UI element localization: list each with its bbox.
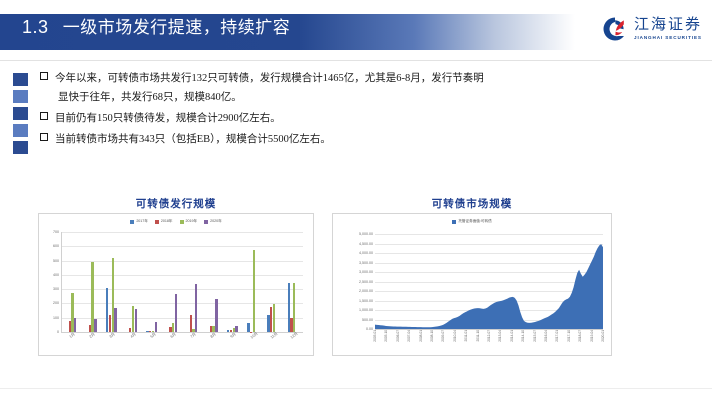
- x-axis-tick: 2017-10: [567, 330, 571, 342]
- x-axis-tick: 2014-01: [510, 330, 514, 342]
- bar: [273, 304, 275, 332]
- bar: [195, 284, 197, 332]
- header-divider: [0, 60, 712, 61]
- legend-item: 2020年: [204, 219, 222, 224]
- bar-group: [122, 232, 142, 332]
- market-scale-area-chart: 可转债市场规模 托管证券面值:可转债 5,000.004,500.004,000…: [332, 196, 612, 356]
- chart-frame: 托管证券面值:可转债 5,000.004,500.004,000.003,500…: [332, 213, 612, 356]
- bar: [253, 250, 255, 332]
- y-axis-tick: 3,500.00: [359, 261, 373, 265]
- bar-group: [162, 232, 182, 332]
- y-axis-tick: 500.00: [362, 318, 373, 322]
- y-axis-tick: 500: [53, 259, 59, 263]
- bar-group: [182, 232, 202, 332]
- x-axis-tick: 2019-04: [590, 330, 594, 342]
- x-axis-tick: 2017-01: [555, 330, 559, 342]
- chart-legend: 托管证券面值:可转债: [333, 219, 611, 224]
- legend-swatch: [130, 220, 134, 224]
- footer-divider: [0, 388, 712, 389]
- decorative-square: [13, 141, 28, 154]
- decorative-square-column: [13, 73, 28, 158]
- legend-label: 2019年: [186, 219, 198, 224]
- x-axis-tick: 2008-10: [430, 330, 434, 342]
- x-axis-tick: 2020-01: [601, 330, 605, 342]
- bar-group: [142, 232, 162, 332]
- decorative-square: [13, 90, 28, 103]
- x-axis-tick: 2010-04: [453, 330, 457, 342]
- legend-swatch: [180, 220, 184, 224]
- slide-header: 1.3 一级市场发行提速，持续扩容 江海证券 JIANGHAI SECURITI…: [0, 0, 712, 62]
- bar: [94, 319, 96, 332]
- issuance-scale-bar-chart: 可转债发行规模 2017年2018年2019年2020年 01002003004…: [38, 196, 314, 356]
- bar-group: [101, 232, 121, 332]
- jianghai-logo-icon: [602, 16, 628, 42]
- y-axis-tick: 300: [53, 287, 59, 291]
- bar: [175, 294, 177, 332]
- x-axis-tick: 7月: [190, 332, 198, 340]
- logo-wordmark: 江海证券 JIANGHAI SECURITIES: [634, 18, 702, 41]
- y-axis-tick: 100: [53, 316, 59, 320]
- bar: [74, 318, 76, 332]
- chart-frame: 2017年2018年2019年2020年 0100200300400500600…: [38, 213, 314, 356]
- legend-item: 托管证券面值:可转债: [452, 219, 491, 224]
- bullet-text: 显快于往年，共发行68只，规模840亿。: [58, 92, 242, 103]
- logo-name-en: JIANGHAI SECURITIES: [634, 36, 702, 41]
- area-series: [375, 234, 603, 329]
- page-title: 1.3 一级市场发行提速，持续扩容: [22, 13, 290, 38]
- y-axis-tick: 400: [53, 273, 59, 277]
- y-axis-tick: 4,500.00: [359, 242, 373, 246]
- x-axis-tick: 8月: [210, 332, 218, 340]
- bullet-item: 目前仍有150只转债待发，规模合计2900亿左右。: [40, 110, 281, 125]
- section-number: 1.3: [22, 17, 49, 37]
- x-axis-tick: 2008-01: [419, 330, 423, 342]
- legend-swatch: [204, 220, 208, 224]
- y-axis-tick: 3,000.00: [359, 270, 373, 274]
- bar-group: [222, 232, 242, 332]
- y-axis-tick: 2,500.00: [359, 280, 373, 284]
- logo-name-cn: 江海证券: [634, 18, 702, 33]
- bar-group: [283, 232, 303, 332]
- y-axis-tick: 0: [57, 330, 59, 334]
- bar: [114, 308, 116, 332]
- y-axis-tick: 700: [53, 230, 59, 234]
- legend-swatch: [155, 220, 159, 224]
- bullet-item-continuation: 显快于往年，共发行68只，规模840亿。: [58, 89, 242, 104]
- legend-label: 2020年: [210, 219, 222, 224]
- x-axis-tick: 2011-10: [476, 330, 480, 341]
- x-axis-tick: 2011-01: [464, 330, 468, 341]
- title-label: 一级市场发行提速，持续扩容: [63, 18, 291, 37]
- x-axis-tick: 2月: [89, 332, 97, 340]
- bar: [215, 299, 217, 332]
- bullet-text: 今年以来，可转债市场共发行132只可转债，发行规模合计1465亿，尤其是6-8月…: [55, 73, 484, 84]
- y-axis-tick: 4,000.00: [359, 251, 373, 255]
- x-axis-tick: 9月: [230, 332, 238, 340]
- chart-title: 可转债市场规模: [332, 196, 612, 211]
- legend-swatch: [452, 220, 456, 224]
- legend-item: 2017年: [130, 219, 148, 224]
- decorative-square: [13, 124, 28, 137]
- bar: [155, 322, 157, 332]
- x-axis-tick: 2013-04: [498, 330, 502, 342]
- decorative-square: [13, 73, 28, 86]
- bullet-square-icon: [40, 133, 48, 141]
- x-axis-tick: 2005-01: [373, 330, 377, 342]
- bullet-item: 当前转债市场共有343只（包括EB），规模合计5500亿左右。: [40, 131, 331, 146]
- bullet-square-icon: [40, 72, 48, 80]
- legend-item: 2018年: [155, 219, 173, 224]
- company-logo: 江海证券 JIANGHAI SECURITIES: [602, 12, 702, 46]
- bar-group: [243, 232, 263, 332]
- x-axis-tick: 2007-04: [407, 330, 411, 342]
- x-axis-tick: 1月: [69, 332, 77, 340]
- x-axis-tick: 3月: [109, 332, 117, 340]
- bar-group: [263, 232, 283, 332]
- bar: [135, 309, 137, 332]
- chart-legend: 2017年2018年2019年2020年: [39, 219, 313, 224]
- bullet-square-icon: [40, 112, 48, 120]
- y-axis-tick: 2,000.00: [359, 289, 373, 293]
- x-axis-tick: 2014-10: [521, 330, 525, 342]
- decorative-square: [13, 107, 28, 120]
- legend-item: 2019年: [180, 219, 198, 224]
- bullet-text: 目前仍有150只转债待发，规模合计2900亿左右。: [55, 113, 281, 124]
- legend-label: 2018年: [161, 219, 173, 224]
- chart-plot-area: 01002003004005006007001月2月3月4月5月6月7月8月9月…: [61, 232, 303, 332]
- bar-group: [61, 232, 81, 332]
- x-axis-tick: 2016-04: [544, 330, 548, 342]
- chart-plot-area: 5,000.004,500.004,000.003,500.003,000.00…: [375, 234, 603, 329]
- bar-group: [81, 232, 101, 332]
- chart-title: 可转债发行规模: [38, 196, 314, 211]
- y-axis-tick: 5,000.00: [359, 232, 373, 236]
- x-axis-tick: 2006-07: [396, 330, 400, 342]
- y-axis-tick: 1,500.00: [359, 299, 373, 303]
- x-axis-tick: 2005-10: [384, 330, 388, 342]
- x-axis-tick: 2015-07: [533, 330, 537, 342]
- bar-group: [202, 232, 222, 332]
- x-axis-tick: 2012-07: [487, 330, 491, 342]
- x-axis-tick: 6月: [170, 332, 178, 340]
- bar: [293, 283, 295, 332]
- y-axis-tick: 0.00: [366, 327, 373, 331]
- legend-label: 托管证券面值:可转债: [458, 219, 491, 224]
- y-axis-tick: 1,000.00: [359, 308, 373, 312]
- legend-label: 2017年: [136, 219, 148, 224]
- bullet-block: 今年以来，可转债市场共发行132只可转债，发行规模合计1465亿，尤其是6-8月…: [0, 70, 712, 162]
- y-axis-tick: 200: [53, 301, 59, 305]
- bullet-item: 今年以来，可转债市场共发行132只可转债，发行规模合计1465亿，尤其是6-8月…: [40, 70, 484, 85]
- bar: [235, 326, 237, 332]
- x-axis-tick: 2018-07: [578, 330, 582, 342]
- y-axis-tick: 600: [53, 244, 59, 248]
- x-axis-tick: 5月: [149, 332, 157, 340]
- x-axis-tick: 4月: [129, 332, 137, 340]
- x-axis-line: [61, 332, 303, 333]
- x-axis-tick: 2009-07: [441, 330, 445, 342]
- bullet-text: 当前转债市场共有343只（包括EB），规模合计5500亿左右。: [55, 134, 331, 145]
